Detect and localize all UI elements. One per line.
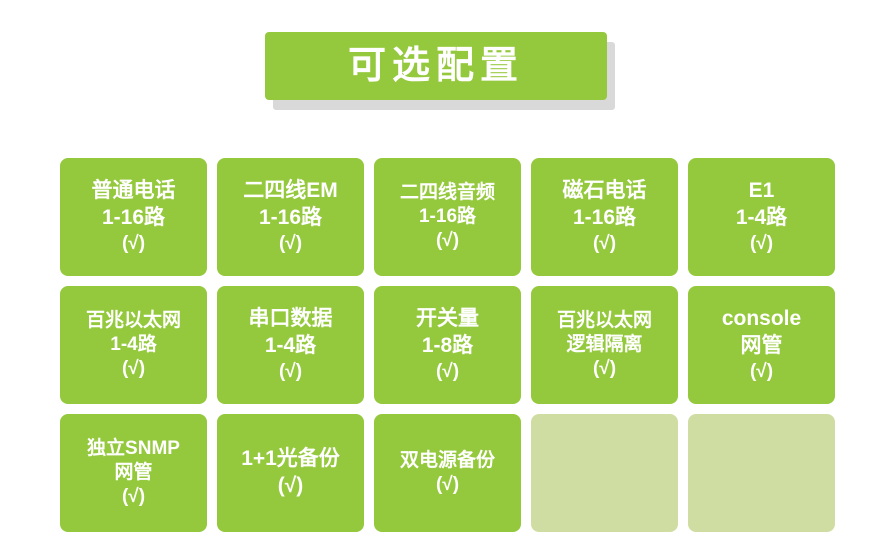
option-card-line: (√) [593, 232, 616, 256]
optional-configuration-page: 可选配置 普通电话1-16路(√)二四线EM1-16路(√)二四线音频1-16路… [0, 0, 880, 560]
option-card-line: 双电源备份 [400, 449, 495, 473]
option-card[interactable]: 双电源备份(√) [374, 414, 521, 532]
option-card-line: (√) [122, 485, 145, 509]
option-card-line: (√) [436, 360, 459, 384]
option-card-line: (√) [279, 232, 302, 256]
option-card[interactable]: 二四线音频1-16路(√) [374, 158, 521, 276]
option-card-line: (√) [436, 473, 459, 497]
option-card-line: (√) [278, 473, 304, 500]
option-card-line: console [722, 306, 801, 333]
option-card-line: (√) [593, 357, 616, 381]
option-card-line: 1-16路 [102, 205, 165, 232]
title-banner: 可选配置 [265, 32, 607, 100]
option-card[interactable]: 百兆以太网逻辑隔离(√) [531, 286, 678, 404]
option-card-line: 1-8路 [422, 333, 473, 360]
option-cards-grid: 普通电话1-16路(√)二四线EM1-16路(√)二四线音频1-16路(√)磁石… [60, 158, 832, 532]
option-card-line: 串口数据 [249, 306, 333, 333]
option-card-line: 1-4路 [265, 333, 316, 360]
option-card-line: 磁石电话 [563, 178, 647, 205]
option-card-line: 开关量 [416, 306, 479, 333]
option-card-placeholder [688, 414, 835, 532]
option-card-placeholder [531, 414, 678, 532]
option-card[interactable]: 二四线EM1-16路(√) [217, 158, 364, 276]
option-card[interactable]: 1+1光备份(√) [217, 414, 364, 532]
option-card-line: 二四线音频 [400, 181, 495, 205]
option-card-line: 普通电话 [92, 178, 176, 205]
option-card-line: 1-16路 [259, 205, 322, 232]
option-card-line: (√) [122, 357, 145, 381]
option-card-line: 网管 [114, 461, 152, 485]
option-card[interactable]: 磁石电话1-16路(√) [531, 158, 678, 276]
option-card-line: 百兆以太网 [86, 309, 181, 333]
option-card[interactable]: 开关量1-8路(√) [374, 286, 521, 404]
option-card-line: 1+1光备份 [241, 446, 340, 473]
option-card-line: 1-4路 [736, 205, 787, 232]
option-card[interactable]: 独立SNMP网管(√) [60, 414, 207, 532]
option-card-line: (√) [122, 232, 145, 256]
option-card-line: E1 [749, 178, 775, 205]
option-card[interactable]: 百兆以太网1-4路(√) [60, 286, 207, 404]
option-card-line: (√) [750, 360, 773, 384]
option-card-line: 独立SNMP [87, 437, 180, 461]
option-card-line: 逻辑隔离 [566, 333, 642, 357]
title-banner-group: 可选配置 [265, 32, 615, 110]
option-card[interactable]: 普通电话1-16路(√) [60, 158, 207, 276]
option-card-line: 1-16路 [573, 205, 636, 232]
option-card[interactable]: 串口数据1-4路(√) [217, 286, 364, 404]
option-card[interactable]: console网管(√) [688, 286, 835, 404]
option-card-line: (√) [750, 232, 773, 256]
option-card-line: 二四线EM [243, 178, 338, 205]
option-card[interactable]: E11-4路(√) [688, 158, 835, 276]
option-card-line: 百兆以太网 [557, 309, 652, 333]
option-card-line: 网管 [741, 333, 783, 360]
option-card-line: (√) [279, 360, 302, 384]
page-title: 可选配置 [348, 47, 524, 85]
option-card-line: 1-4路 [110, 333, 156, 357]
option-card-line: 1-16路 [419, 205, 476, 229]
option-card-line: (√) [436, 229, 459, 253]
